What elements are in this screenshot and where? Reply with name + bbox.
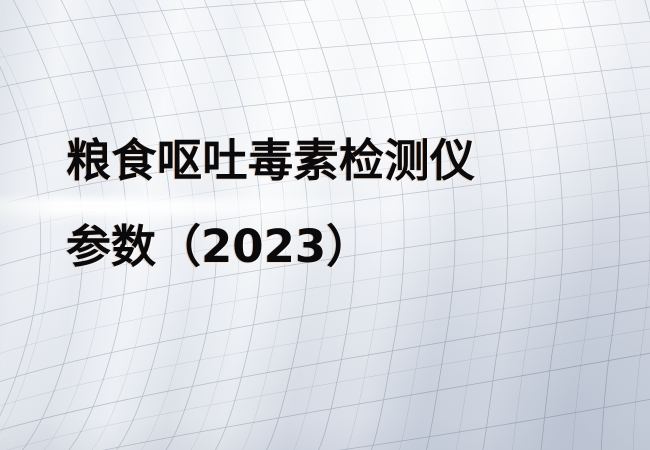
banner-title-line-2: 参数（2023）	[66, 204, 586, 290]
banner-title-line-1: 粮食呕吐毒素检测仪	[66, 118, 586, 204]
banner-title-block: 粮食呕吐毒素检测仪 参数（2023）	[66, 118, 586, 290]
title-banner: 粮食呕吐毒素检测仪 参数（2023）	[0, 0, 650, 450]
